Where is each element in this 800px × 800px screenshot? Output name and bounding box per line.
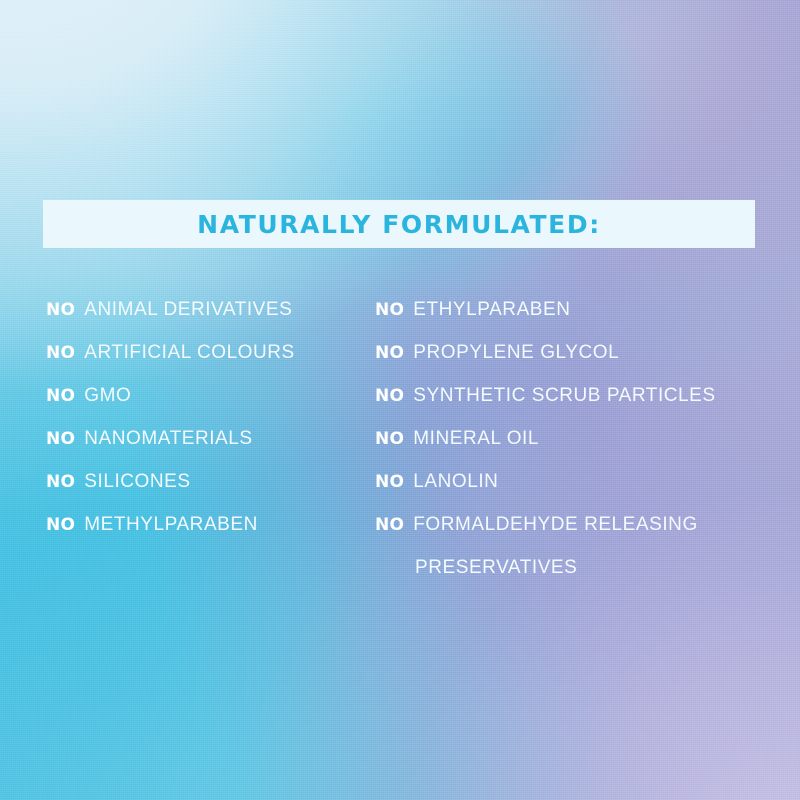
list-item: NO SILICONES [46,460,376,503]
claim-prefix: NO [46,300,75,320]
claims-column-left: NO ANIMAL DERIVATIVES NO ARTIFICIAL COLO… [46,288,376,546]
list-item: NO NANOMATERIALS [46,417,376,460]
headline-banner: NATURALLY FORMULATED: [43,200,755,248]
list-item: NO PROPYLENE GLYCOL [375,331,785,374]
ingredient-claims-poster: NATURALLY FORMULATED: NO ANIMAL DERIVATI… [0,0,800,800]
claim-prefix: NO [375,429,404,449]
list-item: NO ETHYLPARABEN [375,288,785,331]
claim-label: METHYLPARABEN [84,514,258,536]
list-item: NO SYNTHETIC SCRUB PARTICLES [375,374,785,417]
claim-prefix: NO [375,386,404,406]
claim-prefix: NO [46,429,75,449]
claim-prefix: NO [46,515,75,535]
claim-prefix: NO [46,472,75,492]
claim-label: PRESERVATIVES [415,557,577,579]
claim-prefix: NO [46,386,75,406]
claim-label: GMO [84,385,131,407]
poster-content: NATURALLY FORMULATED: NO ANIMAL DERIVATI… [0,0,800,800]
claim-label: MINERAL OIL [413,428,539,450]
claim-label: FORMALDEHYDE RELEASING [413,514,698,536]
list-item-continuation: PRESERVATIVES [375,546,785,589]
claim-prefix: NO [375,343,404,363]
claim-prefix: NO [375,300,404,320]
list-item: NO LANOLIN [375,460,785,503]
claim-label: NANOMATERIALS [84,428,252,450]
claim-prefix: NO [375,472,404,492]
list-item: NO ANIMAL DERIVATIVES [46,288,376,331]
claim-label: ANIMAL DERIVATIVES [84,299,292,321]
list-item: NO GMO [46,374,376,417]
list-item: NO FORMALDEHYDE RELEASING [375,503,785,546]
claim-prefix: NO [375,515,404,535]
claim-prefix: NO [46,343,75,363]
list-item: NO ARTIFICIAL COLOURS [46,331,376,374]
list-item: NO METHYLPARABEN [46,503,376,546]
claim-label: ARTIFICIAL COLOURS [84,342,295,364]
claim-label: SYNTHETIC SCRUB PARTICLES [413,385,715,407]
claim-label: ETHYLPARABEN [413,299,570,321]
list-item: NO MINERAL OIL [375,417,785,460]
claim-label: SILICONES [84,471,190,493]
claims-column-right: NO ETHYLPARABEN NO PROPYLENE GLYCOL NO S… [375,288,785,589]
claim-label: LANOLIN [413,471,498,493]
claim-label: PROPYLENE GLYCOL [413,342,619,364]
page-title: NATURALLY FORMULATED: [197,212,601,237]
